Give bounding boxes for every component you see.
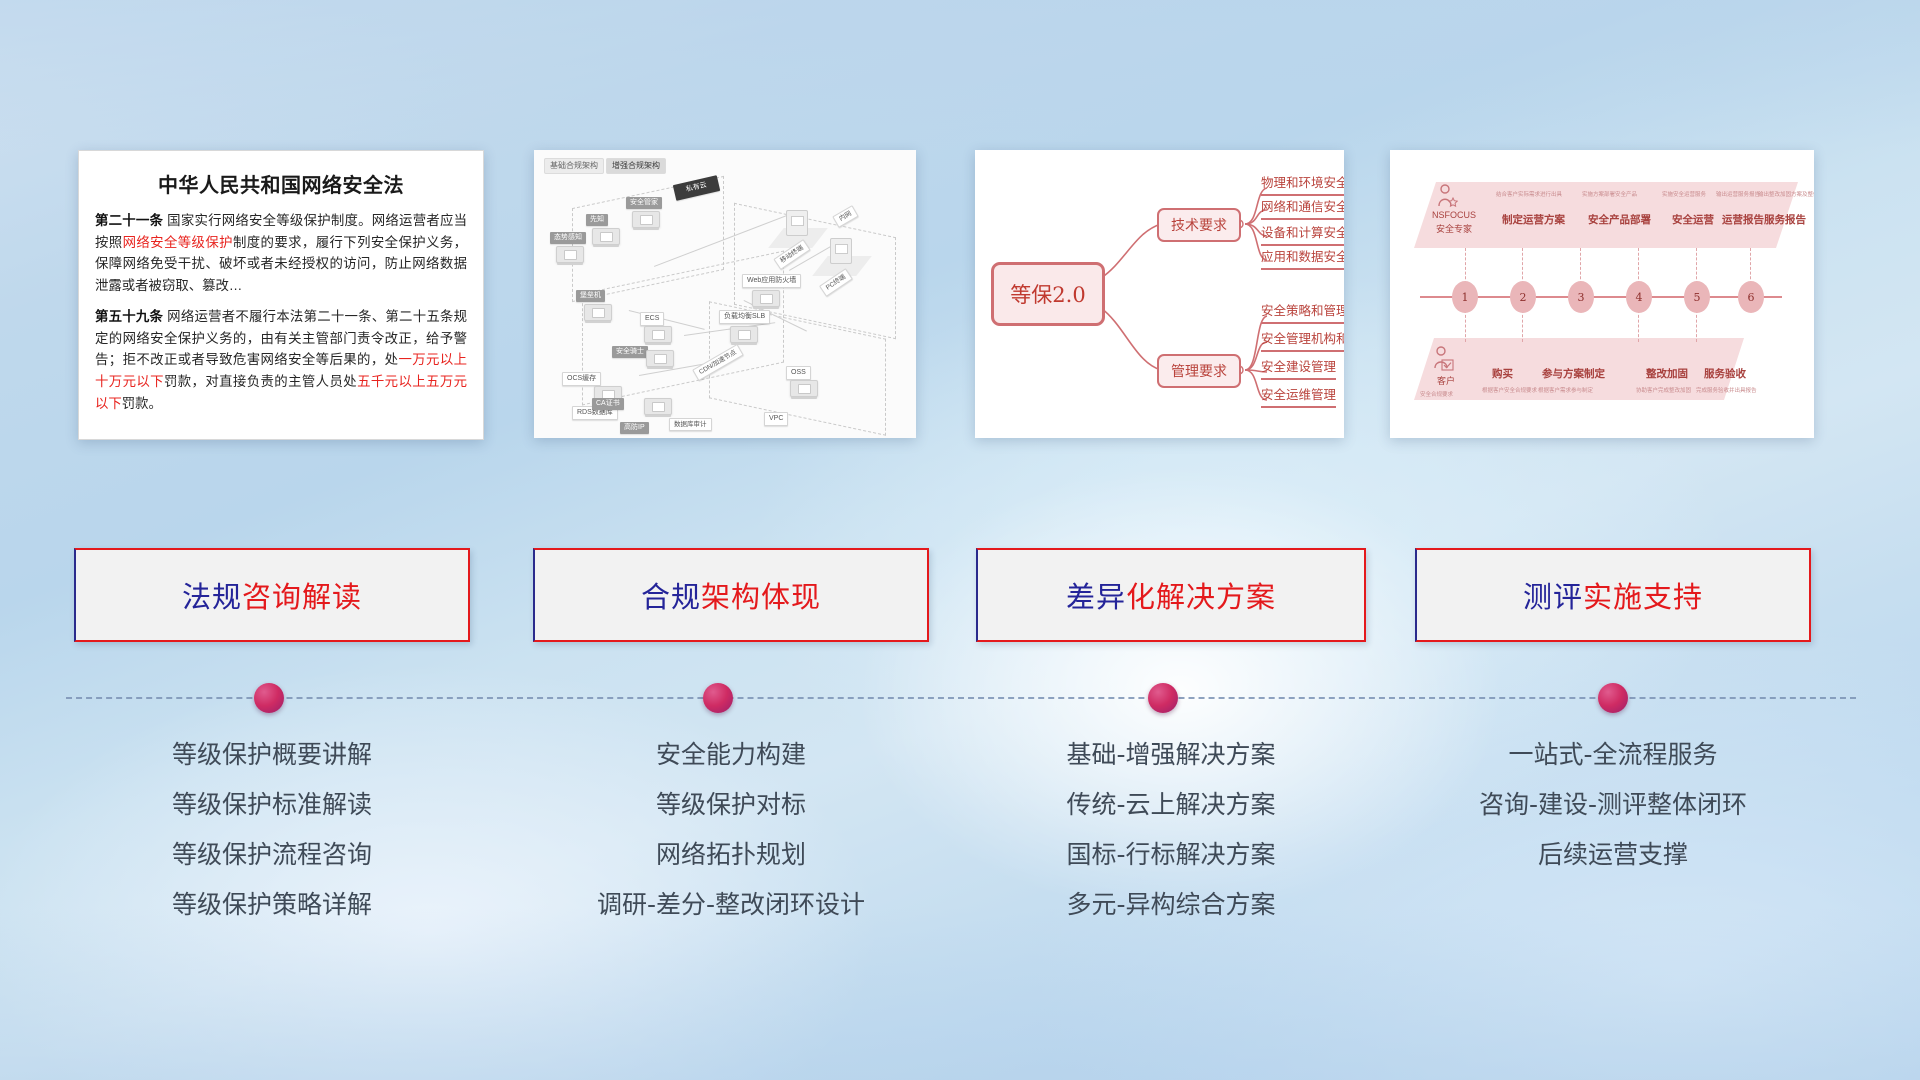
mindmap-leaf-operation: 安全运维管理 (1261, 384, 1336, 408)
timeline-top-label-2: 安全产品部署 (1588, 212, 1651, 227)
timeline-top-label-4: 运营报告 (1722, 212, 1764, 227)
node-situational-awareness: 态势感知 (550, 232, 586, 244)
node-slb: 负载均衡SLB (719, 310, 770, 324)
list-item: 多元-异构综合方案 (976, 892, 1366, 917)
node-intranet: 内网 (832, 205, 858, 228)
node-ocs-cache: OCS缓存 (562, 372, 601, 386)
node-anti-ddos-ip: 高防IP (620, 422, 649, 434)
timeline-conn-b3 (1638, 310, 1639, 342)
pillar-evaluation-label: 测评实施支持 (1523, 574, 1703, 616)
list-item: 等级保护流程咨询 (74, 842, 470, 867)
column-architecture: 安全能力构建 等级保护对标 网络拓扑规划 调研-差分-整改闭环设计 (533, 742, 929, 942)
expert-person-icon (1436, 184, 1458, 208)
pillar-row: 法规咨询解读 合规架构体现 差异化解决方案 测评实施支持 (0, 548, 1920, 648)
customer-person-icon (1432, 346, 1454, 372)
thumbnail-card-row: 中华人民共和国网络安全法 第二十一条 国家实行网络安全等级保护制度。网络运营者应… (0, 150, 1920, 450)
list-item: 等级保护策略详解 (74, 892, 470, 917)
column-solution: 基础-增强解决方案 传统-云上解决方案 国标-行标解决方案 多元-异构综合方案 (976, 742, 1366, 942)
axis-dot-2[interactable] (703, 683, 733, 713)
timeline-top-label-1: 制定运营方案 (1502, 212, 1565, 227)
tab-enhanced-architecture[interactable]: 增强合规架构 (606, 158, 666, 174)
node-database-audit: 数据库审计 (669, 418, 712, 431)
timeline-conn-b1 (1465, 310, 1466, 342)
timeline-step-1[interactable]: 1 (1452, 281, 1478, 313)
brand-subtitle: 安全专家 (1422, 224, 1486, 235)
timeline-conn-4 (1638, 248, 1639, 284)
law-document-card[interactable]: 中华人民共和国网络安全法 第二十一条 国家实行网络安全等级保护制度。网络运营者应… (78, 150, 484, 440)
mindmap-leaf-application: 应用和数据安全 (1261, 246, 1344, 270)
timeline-bottom-sub-3: 协助客户完成整改加固 (1636, 386, 1691, 394)
timeline-step-3[interactable]: 3 (1568, 281, 1594, 313)
column-regulation: 等级保护概要讲解 等级保护标准解读 等级保护流程咨询 等级保护策略详解 (74, 742, 470, 942)
timeline-bottom-label-1: 购买 (1492, 366, 1513, 381)
timeline-bottom-label-2: 参与方案制定 (1542, 366, 1605, 381)
mindmap-leaf-network: 网络和通信安全 (1261, 196, 1344, 220)
node-vpc: VPC (764, 412, 788, 426)
tab-basic-architecture[interactable]: 基础合规架构 (544, 158, 604, 174)
node-ca-cert: CA证书 (592, 398, 624, 410)
node-security-butler: 安全管家 (626, 197, 662, 209)
pillar-regulation-label: 法规咨询解读 (182, 574, 362, 616)
timeline-conn-3 (1580, 248, 1581, 284)
list-item: 等级保护概要讲解 (74, 742, 470, 767)
node-prophet: 先知 (586, 214, 608, 226)
timeline-step-4[interactable]: 4 (1626, 281, 1652, 313)
timeline-top-label-3: 安全运营 (1672, 212, 1714, 227)
axis-dot-1[interactable] (254, 683, 284, 713)
node-security-knight: 安全骑士 (612, 346, 648, 358)
progress-axis (66, 697, 1856, 701)
timeline-step-2[interactable]: 2 (1510, 281, 1536, 313)
mindmap-leaf-org: 安全管理机构和人员 (1261, 328, 1344, 352)
pillar-architecture-label: 合规架构体现 (641, 574, 821, 616)
timeline-step-6[interactable]: 6 (1738, 281, 1764, 313)
law-article-1: 第二十一条 国家实行网络安全等级保护制度。网络运营者应当按照网络安全等级保护制度… (95, 210, 467, 297)
node-ecs: ECS (640, 312, 664, 326)
brand-name: NSFOCUS (1422, 210, 1486, 221)
timeline-bottom-label-3: 整改加固 (1646, 366, 1688, 381)
mindmap-leaf-physical: 物理和环境安全 (1261, 172, 1344, 196)
timeline-top-sub-5: 输出整改加固方案及整体服务报告 (1758, 190, 1814, 198)
mindmap-card[interactable]: 等保2.0 技术要求 管理要求 物理和环境安全 网络和通信安全 设备和计算安全 … (975, 150, 1344, 438)
timeline-top-sub-1: 结合客户实际需求进行出具 (1496, 190, 1562, 198)
customer-subtitle: 安全合规要求 (1420, 390, 1453, 398)
cloud-architecture-card[interactable]: 基础合规架构 增强合规架构 私有云 态势感知 (534, 150, 916, 438)
list-item: 安全能力构建 (533, 742, 929, 767)
timeline-top-label-5: 服务报告 (1764, 212, 1806, 227)
pillar-solution-label: 差异化解决方案 (1066, 574, 1276, 616)
list-item: 一站式-全流程服务 (1415, 742, 1811, 767)
timeline-conn-2 (1522, 248, 1523, 284)
timeline-top-sub-3: 实施安全运营服务 (1662, 190, 1706, 198)
timeline-conn-6 (1750, 248, 1751, 284)
node-oss: OSS (786, 366, 811, 380)
mindmap-root-node: 等保2.0 (991, 262, 1105, 326)
timeline-step-5[interactable]: 5 (1684, 281, 1710, 313)
timeline-bottom-sub-1: 根据客户安全合规要求 (1482, 386, 1537, 394)
mindmap-branch-technical: 技术要求 (1157, 208, 1241, 242)
timeline-conn-b4 (1696, 310, 1697, 342)
list-item: 等级保护标准解读 (74, 792, 470, 817)
pillar-architecture[interactable]: 合规架构体现 (533, 548, 929, 642)
timeline-conn-1 (1465, 248, 1466, 284)
axis-dot-3[interactable] (1148, 683, 1178, 713)
timeline-bottom-sub-2: 根据客户需求参与制定 (1538, 386, 1593, 394)
list-item: 等级保护对标 (533, 792, 929, 817)
timeline-top-sub-2: 实施方案部署安全产品 (1582, 190, 1637, 198)
architecture-tabs[interactable]: 基础合规架构 增强合规架构 (544, 158, 666, 174)
timeline-top-sub-4: 输出运营服务报告 (1716, 190, 1760, 198)
axis-dot-4[interactable] (1598, 683, 1628, 713)
customer-name: 客户 (1420, 376, 1472, 387)
mindmap-leaf-device: 设备和计算安全 (1261, 222, 1344, 246)
pillar-evaluation[interactable]: 测评实施支持 (1415, 548, 1811, 642)
timeline-bottom-sub-4: 完成服务验收并出具报告 (1696, 386, 1757, 394)
mindmap-branch-management: 管理要求 (1157, 354, 1241, 388)
pillar-regulation[interactable]: 法规咨询解读 (74, 548, 470, 642)
list-item: 网络拓扑规划 (533, 842, 929, 867)
law-article-2: 第五十九条 网络运营者不履行本法第二十一条、第二十五条规定的网络安全保护义务的，… (95, 306, 467, 415)
pillar-solution[interactable]: 差异化解决方案 (976, 548, 1366, 642)
service-timeline-card[interactable]: NSFOCUS 安全专家 结合客户实际需求进行出具 制定运营方案 实施方案部署安… (1390, 150, 1814, 438)
list-item: 国标-行标解决方案 (976, 842, 1366, 867)
mindmap-leaf-construction: 安全建设管理 (1261, 356, 1336, 380)
detail-column-row: 等级保护概要讲解 等级保护标准解读 等级保护流程咨询 等级保护策略详解 安全能力… (0, 742, 1920, 972)
timeline-conn-b2 (1522, 310, 1523, 342)
timeline-bottom-label-4: 服务验收 (1704, 366, 1746, 381)
list-item: 传统-云上解决方案 (976, 792, 1366, 817)
slide-background: 中华人民共和国网络安全法 第二十一条 国家实行网络安全等级保护制度。网络运营者应… (0, 0, 1920, 1080)
node-bastion-host: 堡垒机 (576, 290, 605, 302)
list-item: 基础-增强解决方案 (976, 742, 1366, 767)
timeline-conn-5 (1696, 248, 1697, 284)
node-waf: Web应用防火墙 (742, 274, 801, 288)
list-item: 调研-差分-整改闭环设计 (533, 892, 929, 917)
column-evaluation: 一站式-全流程服务 咨询-建设-测评整体闭环 后续运营支撑 (1415, 742, 1811, 892)
mindmap-leaf-policy: 安全策略和管理制度 (1261, 300, 1344, 324)
law-card-title: 中华人民共和国网络安全法 (95, 169, 467, 198)
list-item: 后续运营支撑 (1415, 842, 1811, 867)
list-item: 咨询-建设-测评整体闭环 (1415, 792, 1811, 817)
